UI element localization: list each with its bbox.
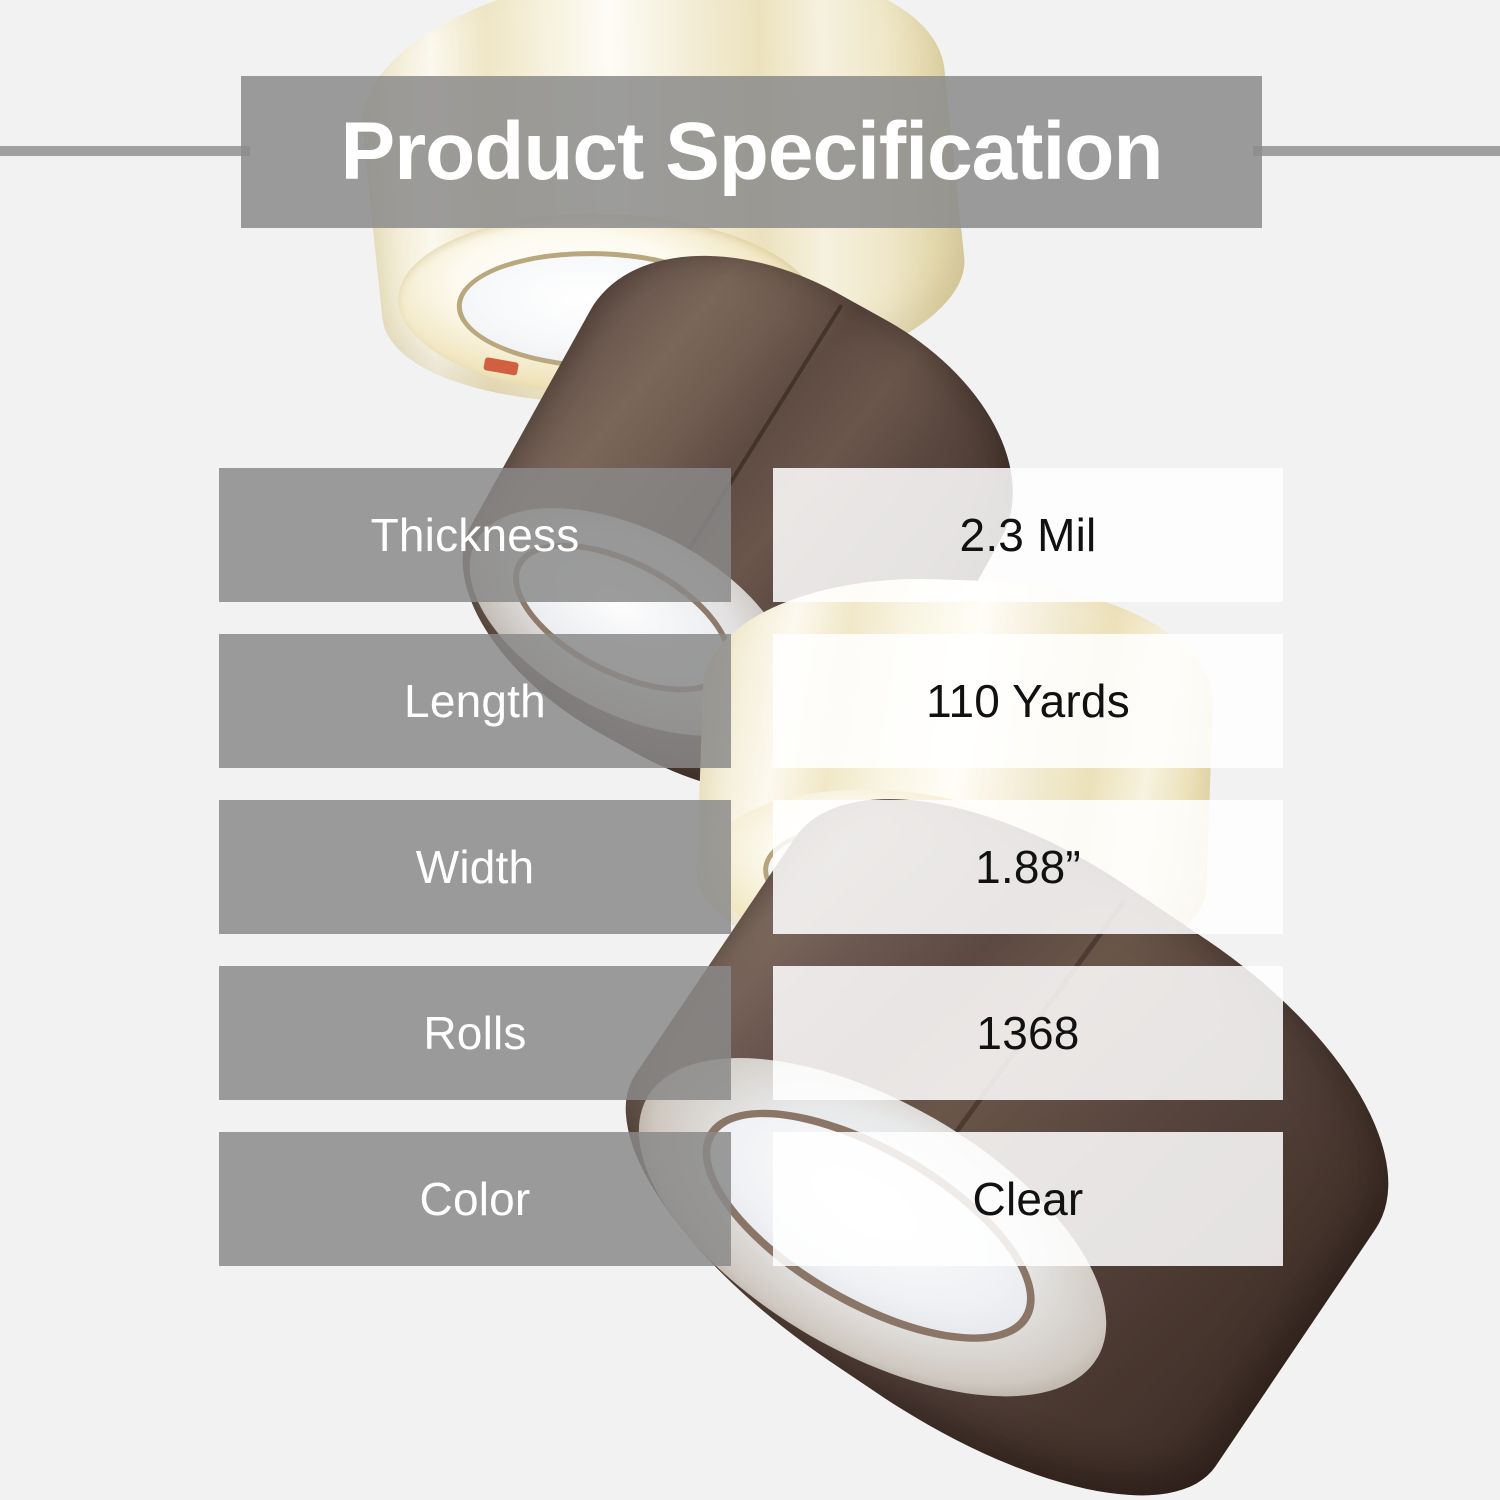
specification-table: Thickness 2.3 Mil Length 110 Yards Width… (219, 468, 1283, 1266)
spec-row-width: Width 1.88” (219, 800, 1283, 934)
spec-row-color: Color Clear (219, 1132, 1283, 1266)
spec-value-length: 110 Yards (773, 634, 1283, 768)
spec-value-thickness: 2.3 Mil (773, 468, 1283, 602)
spec-row-rolls: Rolls 1368 (219, 966, 1283, 1100)
page-title: Product Specification (341, 111, 1163, 193)
spec-value-width: 1.88” (773, 800, 1283, 934)
spec-label-width: Width (219, 800, 731, 934)
spec-label-thickness: Thickness (219, 468, 731, 602)
spec-value-rolls: 1368 (773, 966, 1283, 1100)
title-rule-right (1253, 146, 1500, 156)
spec-row-thickness: Thickness 2.3 Mil (219, 468, 1283, 602)
product-specification-infographic: Product Specification Thickness 2.3 Mil … (0, 0, 1500, 1500)
spec-value-color: Clear (773, 1132, 1283, 1266)
spec-label-length: Length (219, 634, 731, 768)
title-rule-left (0, 146, 250, 156)
title-banner: Product Specification (241, 76, 1262, 228)
spec-label-color: Color (219, 1132, 731, 1266)
spec-label-rolls: Rolls (219, 966, 731, 1100)
spec-row-length: Length 110 Yards (219, 634, 1283, 768)
